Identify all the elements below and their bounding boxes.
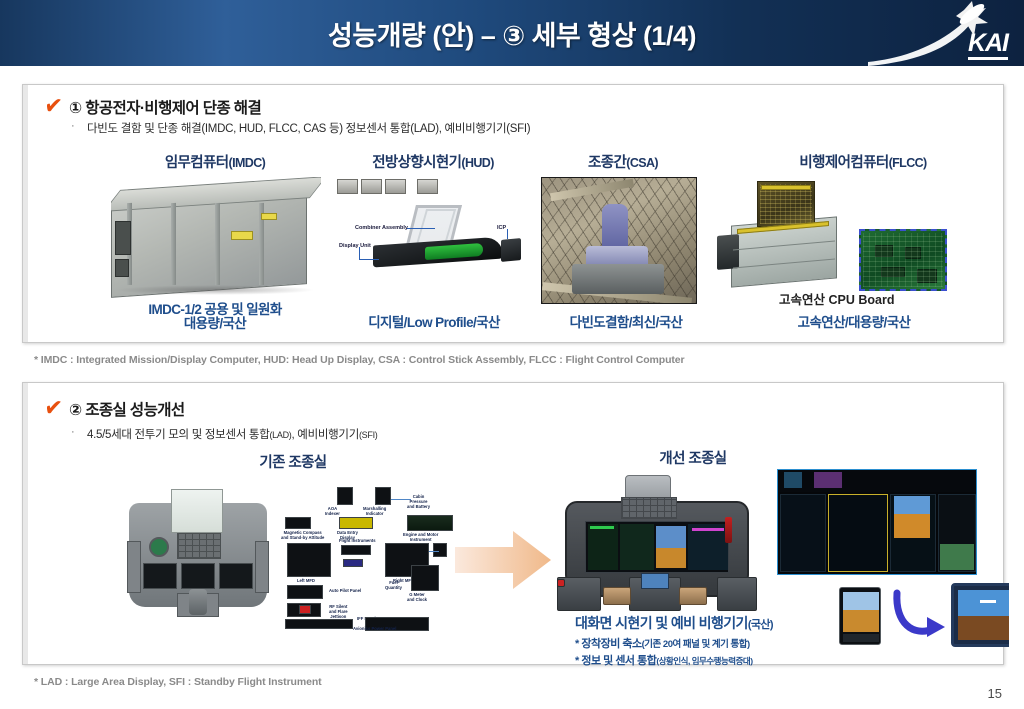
cpu-board-photo xyxy=(859,229,947,291)
item-heading-imdc: 임무컴퓨터(IMDC) xyxy=(115,151,315,172)
slide-header: 성능개량 (안) – ③ 세부 형상 (1/4) KAI xyxy=(0,0,1024,70)
cpu-board-caption: 고속연산 CPU Board xyxy=(779,289,894,308)
caption-title: 대화면 시현기 및 예비 비행기기(국산) xyxy=(575,613,895,633)
item-caption-hud-line1: 디지털/Low Profile/국산 xyxy=(319,316,549,330)
item-heading-imdc-main: 임무컴퓨터 xyxy=(165,155,229,171)
section-1-bullet: 다빈도 결함 및 단종 해결(IMDC, HUD, FLCC, CAS 등) 정… xyxy=(87,120,530,136)
panel-accent-bar-2 xyxy=(23,383,28,664)
section-1-panel: ✔ ① 항공전자·비행제어 단종 해결 · 다빈도 결함 및 단종 해결(IMD… xyxy=(22,84,1004,343)
hud-annotation-icp: ICP xyxy=(497,225,506,231)
item-caption-imdc: IMDC-1/2 공용 및 일원화 대용량/국산 xyxy=(115,303,315,331)
item-heading-hud: 전방상향시현기(HUD) xyxy=(323,151,543,172)
item-caption-flcc-line1: 고속연산/대용량/국산 xyxy=(729,316,979,330)
flight-control-computer-photo xyxy=(717,177,967,297)
item-caption-hud: 디지털/Low Profile/국산 xyxy=(319,316,549,330)
item-heading-csa-paren: (CSA) xyxy=(626,156,658,170)
hud-annotation-combiner: Combiner Assembly xyxy=(355,225,408,231)
section-2-title: ② 조종실 성능개선 xyxy=(69,398,185,420)
large-area-display-screens xyxy=(777,469,977,575)
caption-title-main: 대화면 시현기 및 예비 비행기기 xyxy=(575,615,748,631)
orange-check-icon: ✔ xyxy=(43,90,64,122)
section-1-title: ① 항공전자·비행제어 단종 해결 xyxy=(69,96,261,118)
item-heading-hud-paren: (HUD) xyxy=(461,156,493,170)
page-number: 15 xyxy=(988,686,1002,701)
slide-footnote: * LAD : Large Area Display, SFI : Standb… xyxy=(34,676,322,688)
section-2-bullet-mid: , 예비비행기기 xyxy=(292,429,359,441)
legacy-cockpit-heading: 기존 조종실 xyxy=(223,451,363,472)
caption-title-paren: (국산) xyxy=(748,619,773,631)
caption-bullet-1-main: 장착장비 축소 xyxy=(581,638,641,650)
item-caption-flcc: 고속연산/대용량/국산 xyxy=(729,316,979,330)
section-2-panel: ✔ ② 조종실 성능개선 · 4.5/5세대 전투기 모의 및 정보센서 통합(… xyxy=(22,382,1004,665)
caption-bullet-1-paren: (기존 20여 패널 및 계기 통합) xyxy=(642,639,750,650)
rotate-arrow-icon xyxy=(891,589,947,646)
item-heading-flcc: 비행제어컴퓨터(FLCC) xyxy=(735,151,991,172)
kai-wordmark: KAI xyxy=(968,31,1008,60)
control-stick-assembly-photo xyxy=(541,177,699,307)
imdc-mission-computer-photo xyxy=(111,177,321,299)
orange-check-icon-2: ✔ xyxy=(43,392,64,424)
caption-bullet-2-marker: * xyxy=(575,655,579,667)
bullet-marker-2: · xyxy=(71,426,75,438)
section-2-bullet-main: 4.5/5세대 전투기 모의 및 정보센서 통합 xyxy=(87,429,269,441)
item-heading-csa-main: 조종간 xyxy=(588,155,626,171)
transition-arrow-icon xyxy=(453,529,549,589)
section-1-footnote: * IMDC : Integrated Mission/Display Comp… xyxy=(34,354,685,366)
legacy-cockpit-diagram: AOAIndexer MarshallingIndicator CabinPre… xyxy=(95,471,465,631)
item-caption-csa: 다빈도결함/최신/국산 xyxy=(531,316,721,330)
item-heading-flcc-paren: (FLCC) xyxy=(889,156,927,170)
item-heading-flcc-main: 비행제어컴퓨터 xyxy=(799,155,888,171)
hud-annotation-display-unit: Display Unit xyxy=(339,243,371,249)
standby-flight-instrument-large xyxy=(951,583,1009,647)
section-2-bullet-sfi: (SFI) xyxy=(359,430,378,440)
panel-accent-bar xyxy=(23,85,28,342)
caption-bullet-2-paren: (상황인식, 임무수행능력증대) xyxy=(656,656,752,666)
section-2-bullet: 4.5/5세대 전투기 모의 및 정보센서 통합(LAD), 예비비행기기(SF… xyxy=(87,426,377,442)
upgrade-benefits-caption: 대화면 시현기 및 예비 비행기기(국산) * 장착장비 축소(기존 20여 패… xyxy=(575,613,895,668)
kai-logo: KAI xyxy=(868,0,1018,66)
hud-icp-thumbnails xyxy=(337,179,438,194)
caption-bullet-1: * 장착장비 축소(기존 20여 패널 및 계기 통합) xyxy=(575,635,895,651)
hud-assembly-diagram: Combiner Assembly Display Unit ICP xyxy=(333,179,533,295)
caption-bullet-2-main: 정보 및 센서 통합 xyxy=(581,655,656,667)
header-underline xyxy=(0,66,1024,70)
item-caption-csa-line1: 다빈도결함/최신/국산 xyxy=(531,316,721,330)
section-2-bullet-lad: (LAD) xyxy=(269,430,291,440)
item-heading-csa: 조종간(CSA) xyxy=(535,151,711,172)
item-caption-imdc-line2: 대용량/국산 xyxy=(115,317,315,331)
bullet-marker: · xyxy=(71,120,75,132)
item-heading-imdc-paren: (IMDC) xyxy=(229,156,266,170)
caption-bullet-2: * 정보 및 센서 통합(상황인식, 임무수행능력증대) xyxy=(575,652,895,668)
caption-bullet-1-marker: * xyxy=(575,638,579,650)
item-heading-hud-main: 전방상향시현기 xyxy=(372,155,461,171)
